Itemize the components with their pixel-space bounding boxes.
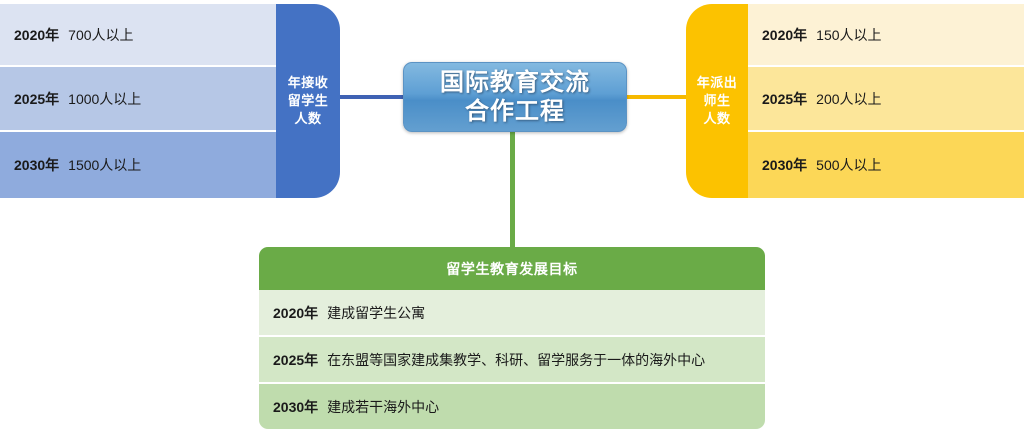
row-year: 2020年 [273, 303, 318, 323]
bottom-branch-header[interactable]: 留学生教育发展目标 [259, 247, 765, 290]
left-branch-row[interactable]: 2030年 1500人以上 [0, 132, 278, 198]
center-title-line: 国际教育交流 [440, 68, 590, 97]
row-year: 2025年 [762, 89, 807, 109]
right-branch-row[interactable]: 2020年 150人以上 [746, 4, 1024, 67]
tab-line: 留学生 [288, 92, 329, 110]
row-year: 2025年 [14, 89, 59, 109]
row-year: 2020年 [762, 25, 807, 45]
row-detail: 1000人以上 [68, 89, 141, 109]
row-detail: 建成留学生公寓 [327, 303, 425, 323]
row-detail: 500人以上 [816, 155, 881, 175]
right-branch-group: 年派出 师生 人数 2020年 150人以上 2025年 200人以上 2030… [686, 4, 1024, 198]
right-branch-row[interactable]: 2030年 500人以上 [746, 132, 1024, 198]
right-branch-tab[interactable]: 年派出 师生 人数 [686, 4, 748, 198]
bottom-branch-row[interactable]: 2030年 建成若干海外中心 [259, 384, 765, 429]
row-year: 2020年 [14, 25, 59, 45]
right-branch-row[interactable]: 2025年 200人以上 [746, 67, 1024, 132]
left-branch-tab[interactable]: 年接收 留学生 人数 [276, 4, 340, 198]
row-detail: 150人以上 [816, 25, 881, 45]
bottom-branch-row[interactable]: 2020年 建成留学生公寓 [259, 290, 765, 337]
tab-line: 年派出 [697, 74, 738, 92]
row-detail: 在东盟等国家建成集教学、科研、留学服务于一体的海外中心 [327, 350, 705, 370]
row-year: 2030年 [762, 155, 807, 175]
row-year: 2030年 [273, 397, 318, 417]
diagram-canvas: 2020年 700人以上 2025年 1000人以上 2030年 1500人以上… [0, 0, 1024, 430]
connector-bottom [510, 126, 515, 250]
connector-right [622, 95, 694, 99]
row-detail: 建成若干海外中心 [327, 397, 439, 417]
right-branch-tab-label: 年派出 师生 人数 [697, 74, 738, 128]
bottom-branch-header-label: 留学生教育发展目标 [446, 259, 577, 279]
left-branch-row[interactable]: 2020年 700人以上 [0, 4, 278, 67]
right-branch-rows: 2020年 150人以上 2025年 200人以上 2030年 500人以上 [746, 4, 1024, 198]
left-branch-tab-label: 年接收 留学生 人数 [288, 74, 329, 128]
bottom-branch-group: 留学生教育发展目标 2020年 建成留学生公寓 2025年 在东盟等国家建成集教… [259, 247, 765, 429]
bottom-branch-row[interactable]: 2025年 在东盟等国家建成集教学、科研、留学服务于一体的海外中心 [259, 337, 765, 384]
center-node[interactable]: 国际教育交流 合作工程 [403, 62, 627, 132]
row-year: 2025年 [273, 350, 318, 370]
tab-line: 人数 [697, 110, 738, 128]
row-detail: 700人以上 [68, 25, 133, 45]
connector-left [336, 95, 408, 99]
row-detail: 1500人以上 [68, 155, 141, 175]
row-year: 2030年 [14, 155, 59, 175]
left-branch-row[interactable]: 2025年 1000人以上 [0, 67, 278, 132]
tab-line: 师生 [697, 92, 738, 110]
tab-line: 人数 [288, 110, 329, 128]
tab-line: 年接收 [288, 74, 329, 92]
left-branch-group: 2020年 700人以上 2025年 1000人以上 2030年 1500人以上… [0, 4, 342, 198]
left-branch-rows: 2020年 700人以上 2025年 1000人以上 2030年 1500人以上 [0, 4, 278, 198]
center-node-title: 国际教育交流 合作工程 [440, 68, 590, 126]
row-detail: 200人以上 [816, 89, 881, 109]
center-title-line: 合作工程 [440, 97, 590, 126]
